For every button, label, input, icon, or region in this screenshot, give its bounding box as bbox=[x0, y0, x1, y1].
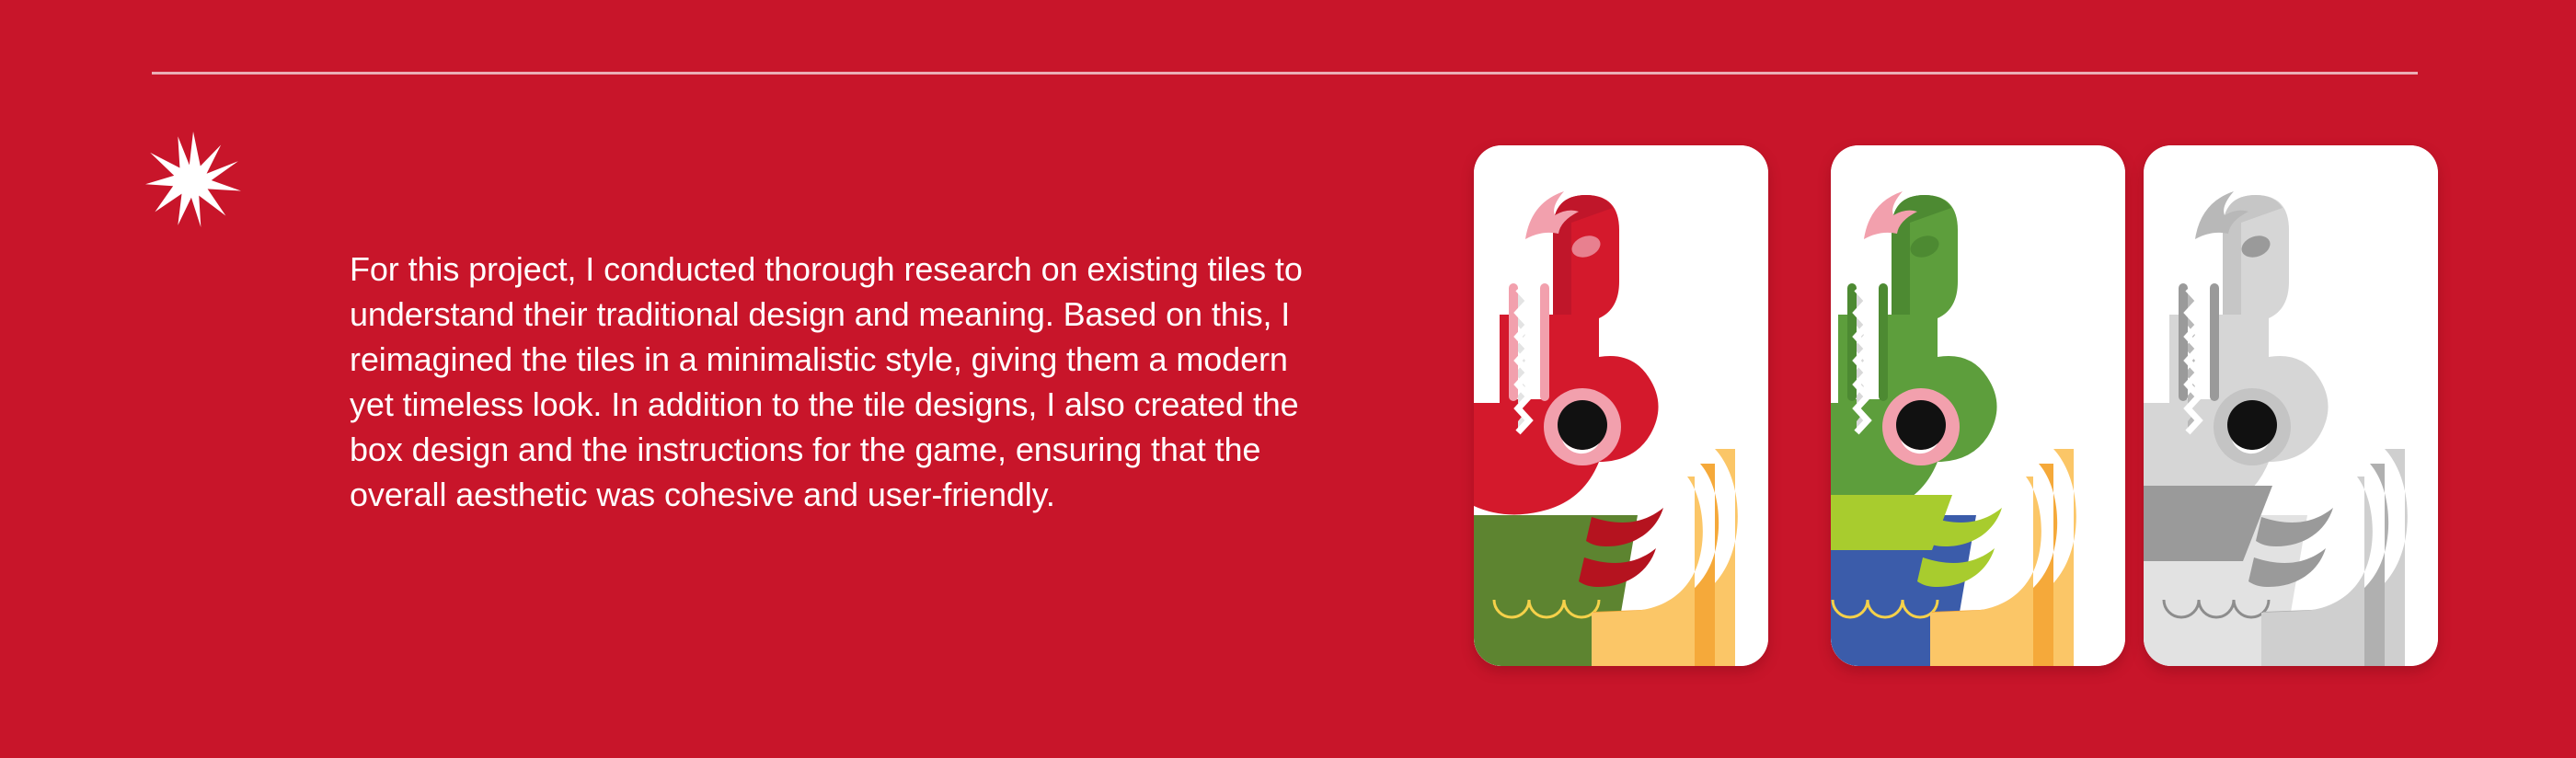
sparkle-star-icon bbox=[145, 132, 241, 227]
top-horizontal-rule bbox=[152, 72, 2418, 75]
slide-root: For this project, I conducted thorough r… bbox=[0, 0, 2576, 758]
project-description-paragraph: For this project, I conducted thorough r… bbox=[350, 247, 1306, 517]
tile-card-green-dragon[interactable] bbox=[1831, 145, 2125, 666]
tile-card-red-dragon[interactable] bbox=[1474, 145, 1768, 666]
tile-card-grey-dragon[interactable] bbox=[2144, 145, 2438, 666]
tile-card-gallery bbox=[1474, 145, 2458, 666]
